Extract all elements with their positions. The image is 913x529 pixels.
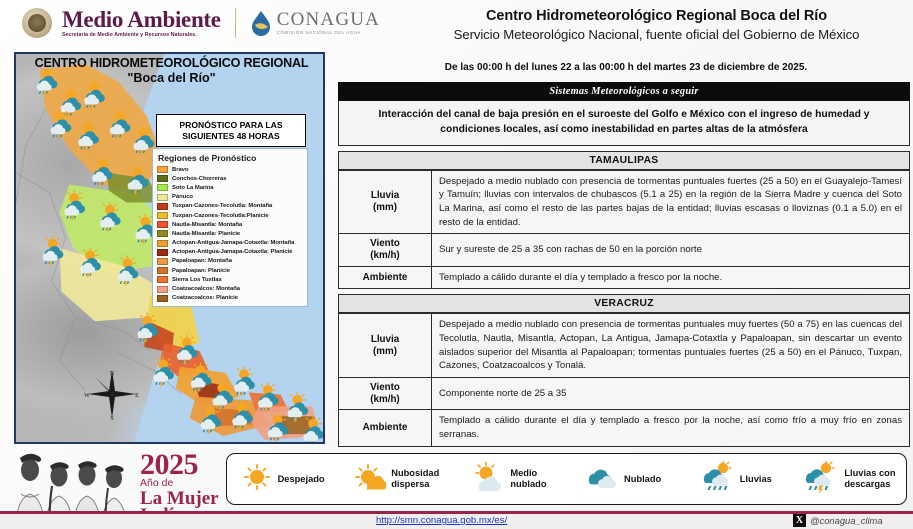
legend-item-label: Bravo <box>172 167 188 173</box>
map-legend-item: Bravo <box>157 165 303 174</box>
legend-color-swatch <box>157 166 168 173</box>
conagua-wordmark: CONAGUA COMISIÓN NACIONAL DEL AGUA <box>277 10 380 35</box>
forecast-poster: Medio Ambiente Secretaría de Medio Ambie… <box>0 0 913 529</box>
ministry-name: Medio Ambiente <box>62 8 221 31</box>
water-drop-icon <box>250 10 272 36</box>
legend-item-label: Nautla-Misantla: Montaña <box>172 222 242 228</box>
state-header: TAMAULIPAS <box>338 151 910 170</box>
map-legend-title: Regiones de Pronóstico <box>157 153 303 163</box>
legend-color-swatch <box>157 221 168 228</box>
mexico-seal-icon <box>22 8 52 38</box>
legend-color-swatch <box>157 295 168 302</box>
legend-color-swatch <box>157 267 168 274</box>
legend-symbol-label: Nubosidad dispersa <box>391 468 439 489</box>
legend-color-swatch <box>157 249 168 256</box>
svg-text:N: N <box>110 371 115 377</box>
row-label: Lluvia(mm) <box>339 170 432 233</box>
state-forecast-table: Lluvia(mm)Despejado a medio nublado con … <box>338 313 910 446</box>
map-legend-item: Papaloapan: Planicie <box>157 266 303 275</box>
row-value: Templado a cálido durante el día y templ… <box>432 266 910 289</box>
svg-text:S: S <box>110 416 113 422</box>
legend-item-label: Nautla-Misantla: Planicie <box>172 231 240 237</box>
legend-symbol-label: Lluvias con descargas <box>844 468 895 489</box>
legend-symbol-item: Nublado <box>567 462 680 497</box>
legend-color-swatch <box>157 258 168 265</box>
row-label-line1: Lluvia <box>341 190 429 202</box>
map-legend-item: Coatzacoalcos: Montaña <box>157 284 303 293</box>
legend-symbol-item: Nubosidad dispersa <box>340 461 453 498</box>
map-legend-list: BravoConchos-ChorrerasSoto La MarinaPánu… <box>157 165 303 303</box>
row-label: Ambiente <box>339 266 432 289</box>
systems-header: Sistemas Meteorológicos a seguir <box>338 82 910 101</box>
legend-item-label: Actopan-Antigua-Jamapa-Cotaxtla: Planici… <box>172 249 292 255</box>
row-label-line2: (mm) <box>341 202 429 214</box>
map-legend: Regiones de Pronóstico BravoConchos-Chor… <box>152 148 308 307</box>
svg-text:E: E <box>135 393 139 399</box>
svg-text:W: W <box>84 393 90 399</box>
validity-period: De las 00:00 h del lunes 22 a las 00:00 … <box>340 62 912 73</box>
state-header: VERACRUZ <box>338 294 910 313</box>
row-label: Lluvia(mm) <box>339 314 432 377</box>
brand-logos: Medio Ambiente Secretaría de Medio Ambie… <box>22 8 380 38</box>
social-handle-block[interactable]: X @conagua_clima <box>793 514 883 527</box>
legend-color-swatch <box>157 212 168 219</box>
legend-item-label: Actopan-Antigua-Jamapa-Cotaxtla: Montaña <box>172 240 294 246</box>
row-label-line1: Lluvia <box>341 334 429 346</box>
row-label-line2: (mm) <box>341 346 429 358</box>
row-value: Templado a cálido durante el día y templ… <box>432 410 910 446</box>
legend-color-swatch <box>157 184 168 191</box>
legend-item-label: Soto La Marina <box>172 185 214 191</box>
map-legend-item: Nautla-Misantla: Montaña <box>157 220 303 229</box>
legend-symbol-label: Lluvias <box>740 474 772 485</box>
state-sections: TAMAULIPASLluvia(mm)Despejado a medio nu… <box>338 151 910 447</box>
legend-symbol-label: Nublado <box>624 474 661 485</box>
map-legend-item: Sierra Los Tuxtlas <box>157 275 303 284</box>
map-legend-item: Conchos-Chorreras <box>157 174 303 183</box>
legend-color-swatch <box>157 230 168 237</box>
map-legend-item: Actopan-Antigua-Jamapa-Cotaxtla: Montaña <box>157 239 303 248</box>
legend-color-swatch <box>157 276 168 283</box>
row-value: Despejado a medio nublado con presencia … <box>432 314 910 377</box>
storm-cloud-icon <box>803 461 839 498</box>
legend-item-label: Pánuco <box>172 194 193 200</box>
compass-rose-icon: N S W E <box>84 366 140 422</box>
systems-description: Interacción del canal de baja presión en… <box>338 101 910 146</box>
forecast-map[interactable]: N S W E CENTRO HIDROMETEOROLÓGICO REGION… <box>14 52 325 444</box>
legend-item-label: Tuxpan-Cazones-Tecolutla: Montaña <box>172 203 272 209</box>
legend-symbol-label: Medio nublado <box>510 468 546 489</box>
legend-symbol-item: Despejado <box>227 461 340 498</box>
row-value: Despejado a medio nublado con presencia … <box>432 170 910 233</box>
semarnat-wordmark: Medio Ambiente Secretaría de Medio Ambie… <box>62 8 221 38</box>
legend-item-label: Tuxpan-Cazones-Tecolutla:Planicie <box>172 213 269 219</box>
page-title: Centro Hidrometeorológico Regional Boca … <box>404 8 909 24</box>
row-label-line2: (km/h) <box>341 250 429 262</box>
map-legend-item: Soto La Marina <box>157 183 303 192</box>
forecast-period-line2: SIGUIENTES 48 HORAS <box>161 131 301 142</box>
map-legend-item: Tuxpan-Cazones-Tecolutla: Montaña <box>157 202 303 211</box>
row-label-line2: (km/h) <box>341 394 429 406</box>
legend-item-label: Papaloapan: Planicie <box>172 268 230 274</box>
map-legend-item: Nautla-Misantla: Planicie <box>157 229 303 238</box>
table-row: AmbienteTemplado a cálido durante el día… <box>339 410 910 446</box>
forecast-table: Sistemas Meteorológicos a seguir Interac… <box>338 82 910 447</box>
row-value: Componente norte de 25 a 35 <box>432 377 910 410</box>
cloud-icon <box>585 462 619 497</box>
legend-item-label: Sierra Los Tuxtlas <box>172 277 222 283</box>
smn-website-link[interactable]: http://smn.conagua.gob.mx/es/ <box>376 515 507 526</box>
weather-symbol-legend: DespejadoNubosidad dispersaMedio nublado… <box>226 453 907 505</box>
forecast-period-line1: PRONÓSTICO PARA LAS <box>161 120 301 131</box>
map-legend-item: Coatzacoalcos: Planicie <box>157 294 303 303</box>
social-handle: @conagua_clima <box>810 515 883 526</box>
legend-item-label: Coatzacoalcos: Planicie <box>172 295 238 301</box>
logo-divider <box>235 8 236 38</box>
sun-cloud-icon <box>473 461 505 498</box>
table-row: AmbienteTemplado a cálido durante el día… <box>339 266 910 289</box>
legend-color-swatch <box>157 240 168 247</box>
row-value: Sur y sureste de 25 a 35 con rachas de 5… <box>432 234 910 267</box>
sun-icon <box>243 461 273 498</box>
x-twitter-icon[interactable]: X <box>793 514 806 527</box>
agency-name: CONAGUA <box>277 10 380 29</box>
table-row: Viento(km/h)Sur y sureste de 25 a 35 con… <box>339 234 910 267</box>
map-legend-item: Actopan-Antigua-Jamapa-Cotaxtla: Planici… <box>157 248 303 257</box>
forecast-period-box: PRONÓSTICO PARA LAS SIGUIENTES 48 HORAS <box>156 114 306 147</box>
table-row: Lluvia(mm)Despejado a medio nublado con … <box>339 314 910 377</box>
legend-color-swatch <box>157 203 168 210</box>
legend-color-swatch <box>157 175 168 182</box>
row-label: Ambiente <box>339 410 432 446</box>
legend-symbol-item: Lluvias <box>680 461 793 498</box>
legend-item-label: Conchos-Chorreras <box>172 176 226 182</box>
legend-item-label: Papaloapan: Montaña <box>172 258 232 264</box>
rain-cloud-icon <box>701 461 735 498</box>
agency-subtitle: COMISIÓN NACIONAL DEL AGUA <box>277 31 380 35</box>
map-legend-item: Papaloapan: Montaña <box>157 257 303 266</box>
row-label: Viento(km/h) <box>339 234 432 267</box>
table-row: Viento(km/h)Componente norte de 25 a 35 <box>339 377 910 410</box>
row-label-line1: Viento <box>341 238 429 250</box>
legend-color-swatch <box>157 286 168 293</box>
legend-item-label: Coatzacoalcos: Montaña <box>172 286 240 292</box>
legend-color-swatch <box>157 194 168 201</box>
page-subtitle: Servicio Meteorológico Nacional, fuente … <box>404 27 909 42</box>
sun-small-cloud-icon <box>354 461 386 498</box>
campaign-year: 2025 <box>140 450 219 480</box>
ministry-subtitle: Secretaría de Medio Ambiente y Recursos … <box>62 33 221 38</box>
row-label-line1: Viento <box>341 382 429 394</box>
legend-symbol-item: Lluvias con descargas <box>793 461 906 498</box>
header-block: Centro Hidrometeorológico Regional Boca … <box>404 8 909 42</box>
legend-symbol-label: Despejado <box>278 474 325 485</box>
row-label-line1: Ambiente <box>341 422 429 434</box>
state-forecast-table: Lluvia(mm)Despejado a medio nublado con … <box>338 170 910 290</box>
map-legend-item: Pánuco <box>157 193 303 202</box>
table-row: Lluvia(mm)Despejado a medio nublado con … <box>339 170 910 233</box>
conagua-logo: CONAGUA COMISIÓN NACIONAL DEL AGUA <box>250 10 380 36</box>
row-label: Viento(km/h) <box>339 377 432 410</box>
row-label-line1: Ambiente <box>341 272 429 284</box>
legend-symbol-item: Medio nublado <box>453 461 566 498</box>
map-legend-item: Tuxpan-Cazones-Tecolutla:Planicie <box>157 211 303 220</box>
